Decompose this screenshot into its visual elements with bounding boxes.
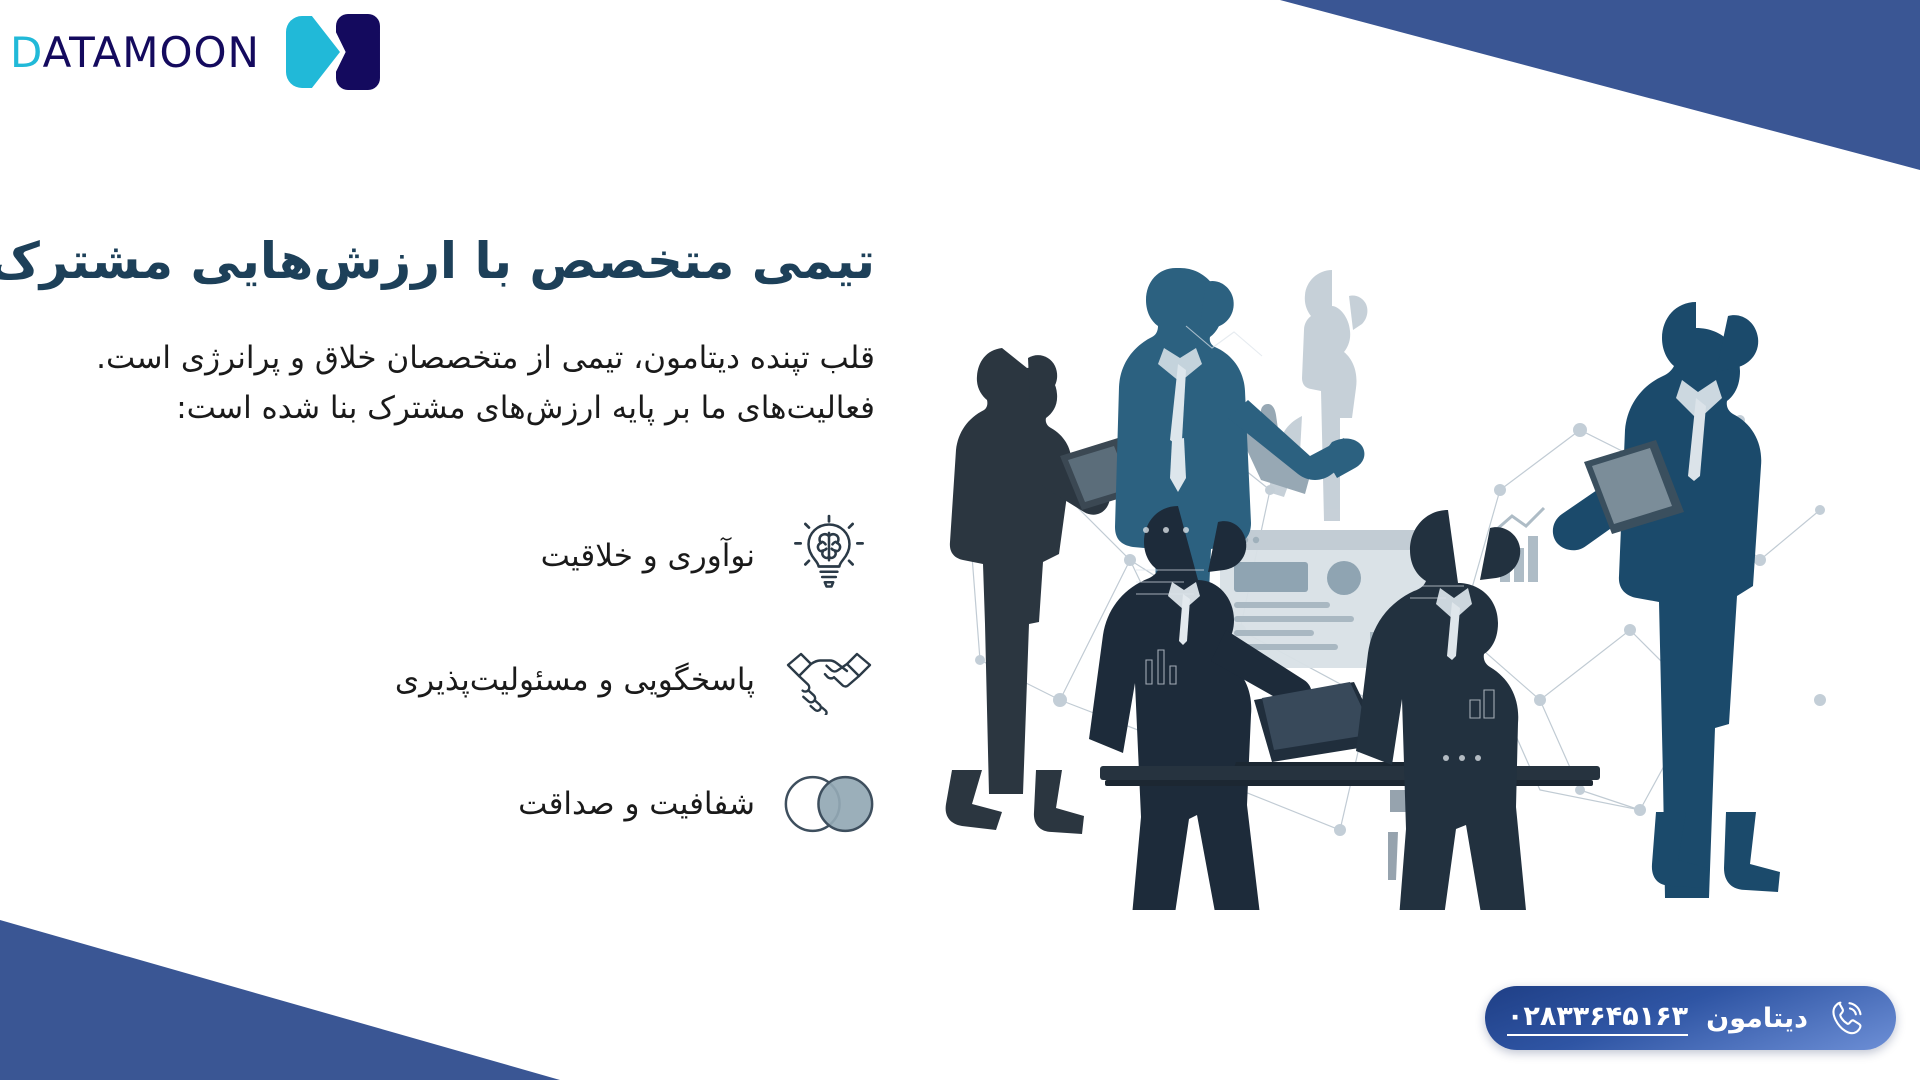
logo-navy-block [336, 14, 380, 90]
logo-cyan-chevron [286, 16, 340, 88]
values-list: نوآوری و خلاقیت [55, 508, 875, 852]
value-label: شفافیت و صداقت [518, 786, 755, 822]
phone-contact-badge[interactable]: دیتامون ۰۲۸۳۳۶۴۵۱۶۳ [1485, 986, 1896, 1050]
value-label: پاسخگویی و مسئولیت‌پذیری [395, 662, 755, 698]
list-item: شفافیت و صداقت [55, 756, 875, 852]
brand-wordmark: DATAMOON [10, 28, 260, 77]
brand-logo[interactable]: DATAMOON [10, 14, 380, 90]
wordmark-d: D [10, 28, 43, 77]
lightbulb-brain-icon [783, 510, 875, 602]
content-column: تیمی متخصص با ارزش‌هایی مشترک قلب تپنده … [55, 230, 875, 880]
business-team-silhouettes-with-data-overlay-illustration [940, 230, 1860, 910]
phone-badge-text: دیتامون ۰۲۸۳۳۶۴۵۱۶۳ [1507, 1001, 1808, 1036]
wordmark-rest: ATAMOON [43, 28, 260, 77]
intro-paragraph: قلب تپنده دیتامون، تیمی از متخصصان خلاق … [55, 333, 875, 433]
overlapping-circles-icon [783, 758, 875, 850]
slide-root: DATAMOON تیمی متخصص با ارزش‌هایی مشترک ق… [0, 0, 1920, 1080]
list-item: نوآوری و خلاقیت [55, 508, 875, 604]
page-title: تیمی متخصص با ارزش‌هایی مشترک [55, 230, 875, 293]
list-item: پاسخگویی و مسئولیت‌پذیری [55, 632, 875, 728]
value-label: نوآوری و خلاقیت [541, 538, 755, 574]
phone-number[interactable]: ۰۲۸۳۳۶۴۵۱۶۳ [1507, 1001, 1688, 1036]
phone-badge-label: دیتامون [1706, 1003, 1808, 1034]
corner-triangle-top-right-icon [1280, 0, 1920, 170]
corner-triangle-bottom-left-icon [0, 920, 560, 1080]
datamoon-chevron-mark-icon [286, 14, 380, 90]
handshake-icon [783, 634, 875, 726]
phone-call-icon [1828, 997, 1870, 1039]
